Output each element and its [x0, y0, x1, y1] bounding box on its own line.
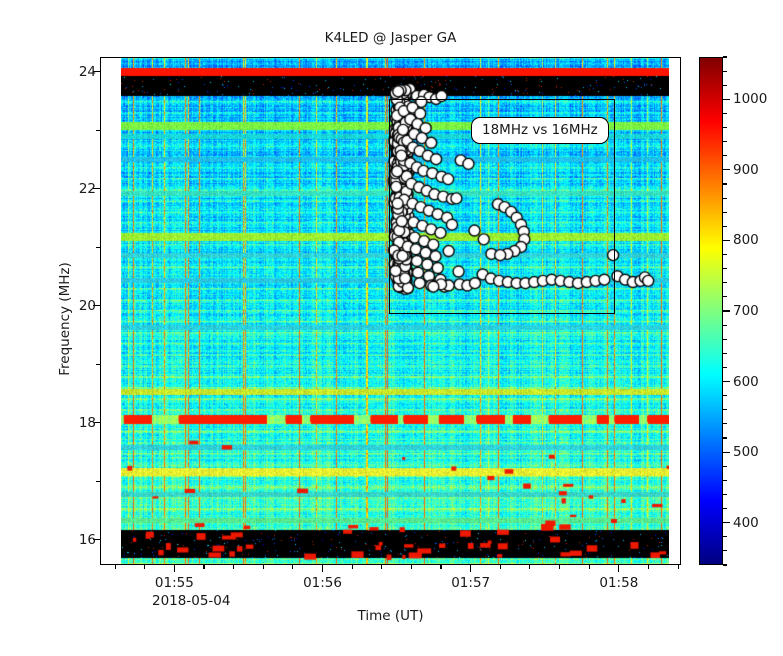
plot-area[interactable]: 18MHz vs 16MHz [100, 57, 681, 565]
x-tick-minor [292, 565, 293, 569]
page-title: K4LED @ Jasper GA [100, 30, 681, 46]
colorbar-tick-minor [723, 423, 727, 424]
colorbar-tick-minor [723, 226, 727, 227]
colorbar-tick-minor [723, 480, 727, 481]
colorbar-tick-minor [723, 56, 727, 57]
colorbar-tick-minor [723, 85, 727, 86]
colorbar-tick-major [723, 381, 730, 382]
colorbar-tick-label: 500 [733, 444, 759, 460]
colorbar-tick-minor [723, 71, 727, 72]
colorbar-tick-minor [723, 367, 727, 368]
colorbar-tick-label: 800 [733, 232, 759, 248]
x-tick-minor [263, 565, 264, 569]
colorbar-tick-major [723, 522, 730, 523]
x-tick-minor [115, 565, 116, 569]
colorbar-tick-minor [723, 183, 727, 184]
colorbar-tick-minor [723, 508, 727, 509]
x-tick-minor [648, 565, 649, 569]
y-tick-minor [96, 481, 100, 482]
date-label: 2018-05-04 [152, 593, 230, 609]
colorbar-tick-minor [723, 282, 727, 283]
x-tick-minor [352, 565, 353, 569]
x-tick-label: 01:55 [155, 575, 194, 591]
x-tick-minor [589, 565, 590, 569]
colorbar-tick-major [723, 240, 730, 241]
colorbar-tick-minor [723, 141, 727, 142]
y-tick-minor [96, 247, 100, 248]
colorbar-tick-minor [723, 339, 727, 340]
colorbar-tick-minor [723, 550, 727, 551]
y-tick-minor [96, 130, 100, 131]
x-tick-label: 01:58 [599, 575, 638, 591]
x-tick-minor [381, 565, 382, 569]
y-tick-label: 20 [79, 298, 96, 314]
colorbar-tick-minor [723, 325, 727, 326]
x-tick-minor [559, 565, 560, 569]
spectrogram-figure: K4LED @ Jasper GA 18MHz vs 16MHz 2422201… [0, 0, 783, 656]
x-tick-major [618, 565, 619, 572]
colorbar-tick-minor [723, 155, 727, 156]
colorbar-tick-minor [723, 409, 727, 410]
x-tick-minor [411, 565, 412, 569]
x-tick-label: 01:57 [451, 575, 490, 591]
y-tick-label: 16 [79, 532, 96, 548]
colorbar-tick-minor [723, 564, 727, 565]
x-tick-minor [144, 565, 145, 569]
x-tick-minor [529, 565, 530, 569]
colorbar-tick-major [723, 452, 730, 453]
colorbar-gradient [700, 58, 722, 564]
x-tick-minor [203, 565, 204, 569]
colorbar-tick-minor [723, 296, 727, 297]
colorbar-tick-minor [723, 268, 727, 269]
colorbar-tick-minor [723, 127, 727, 128]
colorbar-tick-minor [723, 395, 727, 396]
colorbar-tick-label: 1000 [733, 91, 767, 107]
colorbar[interactable] [699, 57, 723, 565]
colorbar-tick-minor [723, 254, 727, 255]
colorbar-tick-label: 700 [733, 303, 759, 319]
colorbar-tick-minor [723, 536, 727, 537]
x-tick-major [322, 565, 323, 572]
colorbar-tick-minor [723, 198, 727, 199]
x-tick-label: 01:56 [303, 575, 342, 591]
colorbar-tick-label: 600 [733, 374, 759, 390]
y-axis-label: Frequency (MHz) [57, 219, 73, 419]
x-tick-minor [678, 565, 679, 569]
y-tick-label: 18 [79, 415, 96, 431]
colorbar-tick-minor [723, 466, 727, 467]
colorbar-tick-minor [723, 212, 727, 213]
colorbar-tick-minor [723, 494, 727, 495]
colorbar-tick-minor [723, 113, 727, 114]
x-tick-major [470, 565, 471, 572]
colorbar-tick-label: 900 [733, 162, 759, 178]
colorbar-tick-minor [723, 353, 727, 354]
y-tick-minor [96, 364, 100, 365]
y-tick-label: 24 [79, 64, 96, 80]
colorbar-tick-major [723, 169, 730, 170]
x-tick-minor [233, 565, 234, 569]
x-tick-minor [500, 565, 501, 569]
colorbar-tick-major [723, 99, 730, 100]
x-axis-label: Time (UT) [100, 608, 681, 624]
colorbar-tick-major [723, 310, 730, 311]
colorbar-tick-minor [723, 437, 727, 438]
annotation-label: 18MHz vs 16MHz [471, 117, 609, 144]
x-tick-minor [440, 565, 441, 569]
colorbar-tick-label: 400 [733, 515, 759, 531]
x-tick-major [174, 565, 175, 572]
y-tick-label: 22 [79, 181, 96, 197]
